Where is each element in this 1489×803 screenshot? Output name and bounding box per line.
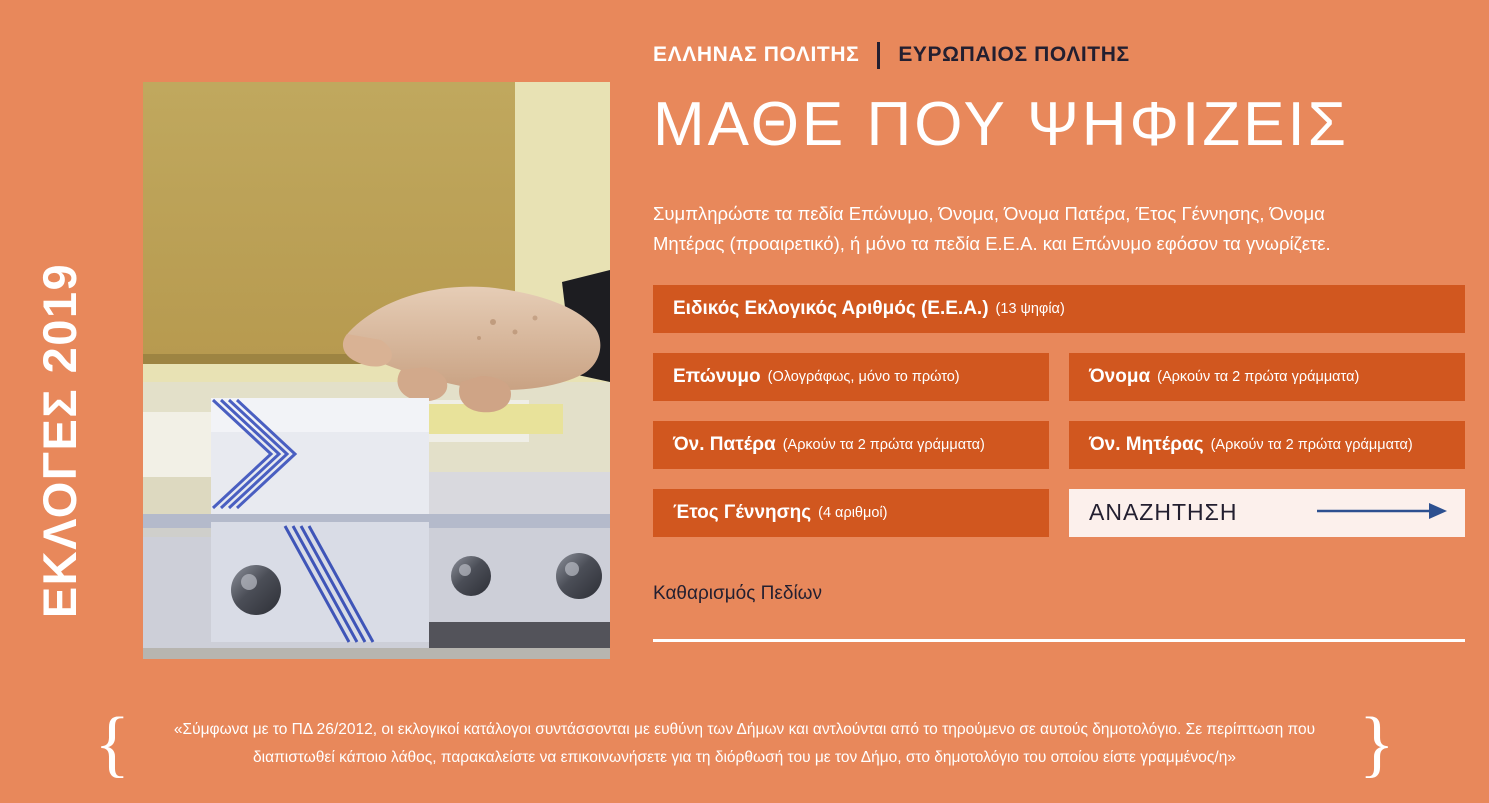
- eea-field[interactable]: Ειδικός Εκλογικός Αριθμός (Ε.Ε.Α.) (13 ψ…: [653, 285, 1465, 333]
- parents-row: Όν. Πατέρα (Αρκούν τα 2 πρώτα γράμματα) …: [653, 421, 1465, 469]
- surname-field-label: Επώνυμο: [673, 366, 761, 388]
- father-name-field-label: Όν. Πατέρα: [673, 434, 776, 456]
- eyebrow-european-citizen: ΕΥΡΩΠΑΙΟΣ ΠΟΛΙΤΗΣ: [898, 43, 1129, 67]
- surname-field[interactable]: Επώνυμο (Ολογράφως, μόνο το πρώτο): [653, 353, 1049, 401]
- search-button[interactable]: ΑΝΑΖΗΤΗΣΗ: [1069, 489, 1465, 537]
- mother-name-field[interactable]: Όν. Μητέρας (Αρκούν τα 2 πρώτα γράμματα): [1069, 421, 1465, 469]
- eea-field-label: Ειδικός Εκλογικός Αριθμός (Ε.Ε.Α.): [673, 298, 989, 320]
- arrow-right-icon: [1317, 501, 1447, 524]
- intro-instructions: Συμπληρώστε τα πεδία Επώνυμο, Όνομα, Όνο…: [653, 199, 1398, 259]
- birthyear-field[interactable]: Έτος Γέννησης (4 αριθμοί): [653, 489, 1049, 537]
- firstname-field[interactable]: Όνομα (Αρκούν τα 2 πρώτα γράμματα): [1069, 353, 1465, 401]
- mother-name-field-label: Όν. Μητέρας: [1089, 434, 1204, 456]
- firstname-field-label: Όνομα: [1089, 366, 1150, 388]
- clear-fields-link[interactable]: Καθαρισμός Πεδίων: [653, 583, 822, 605]
- legal-note-text: «Σύμφωνα με το ΠΔ 26/2012, οι εκλογικοί …: [152, 716, 1337, 773]
- father-name-field[interactable]: Όν. Πατέρα (Αρκούν τα 2 πρώτα γράμματα): [653, 421, 1049, 469]
- birthyear-field-label: Έτος Γέννησης: [673, 502, 811, 524]
- mother-name-field-hint: (Αρκούν τα 2 πρώτα γράμματα): [1211, 437, 1413, 453]
- main-content: ΕΛΛΗΝΑΣ ΠΟΛΙΤΗΣ ΕΥΡΩΠΑΙΟΣ ΠΟΛΙΤΗΣ ΜΑΘΕ Π…: [653, 40, 1465, 642]
- citizenship-eyebrow: ΕΛΛΗΝΑΣ ΠΟΛΙΤΗΣ ΕΥΡΩΠΑΙΟΣ ΠΟΛΙΤΗΣ: [653, 40, 1465, 70]
- surname-field-hint: (Ολογράφως, μόνο το πρώτο): [768, 369, 960, 385]
- elections-year-vertical-title: ΕΚΛΟΓΕΣ 2019: [0, 190, 120, 690]
- section-divider: [653, 639, 1465, 642]
- birthyear-field-hint: (4 αριθμοί): [818, 505, 887, 521]
- search-button-label: ΑΝΑΖΗΤΗΣΗ: [1089, 499, 1237, 526]
- page-title: ΜΑΘΕ ΠΟΥ ΨΗΦΙΖΕΙΣ: [653, 92, 1465, 157]
- ballot-box-photo: [143, 82, 610, 659]
- name-row: Επώνυμο (Ολογράφως, μόνο το πρώτο) Όνομα…: [653, 353, 1465, 401]
- birthyear-search-row: Έτος Γέννησης (4 αριθμοί) ΑΝΑΖΗΤΗΣΗ: [653, 489, 1465, 537]
- eyebrow-greek-citizen: ΕΛΛΗΝΑΣ ΠΟΛΙΤΗΣ: [653, 43, 859, 67]
- eyebrow-divider: [877, 42, 880, 69]
- eea-field-hint: (13 ψηφία): [996, 301, 1065, 317]
- ballot-box-illustration: [143, 82, 610, 659]
- search-form: Ειδικός Εκλογικός Αριθμός (Ε.Ε.Α.) (13 ψ…: [653, 285, 1465, 537]
- brace-open-icon: {: [94, 715, 130, 774]
- elections-year-label: ΕΚΛΟΓΕΣ 2019: [37, 262, 84, 617]
- brace-close-icon: }: [1359, 715, 1395, 774]
- legal-note: { «Σύμφωνα με το ΠΔ 26/2012, οι εκλογικο…: [0, 700, 1489, 788]
- father-name-field-hint: (Αρκούν τα 2 πρώτα γράμματα): [783, 437, 985, 453]
- firstname-field-hint: (Αρκούν τα 2 πρώτα γράμματα): [1157, 369, 1359, 385]
- arrow-right-glyph: [1317, 501, 1447, 521]
